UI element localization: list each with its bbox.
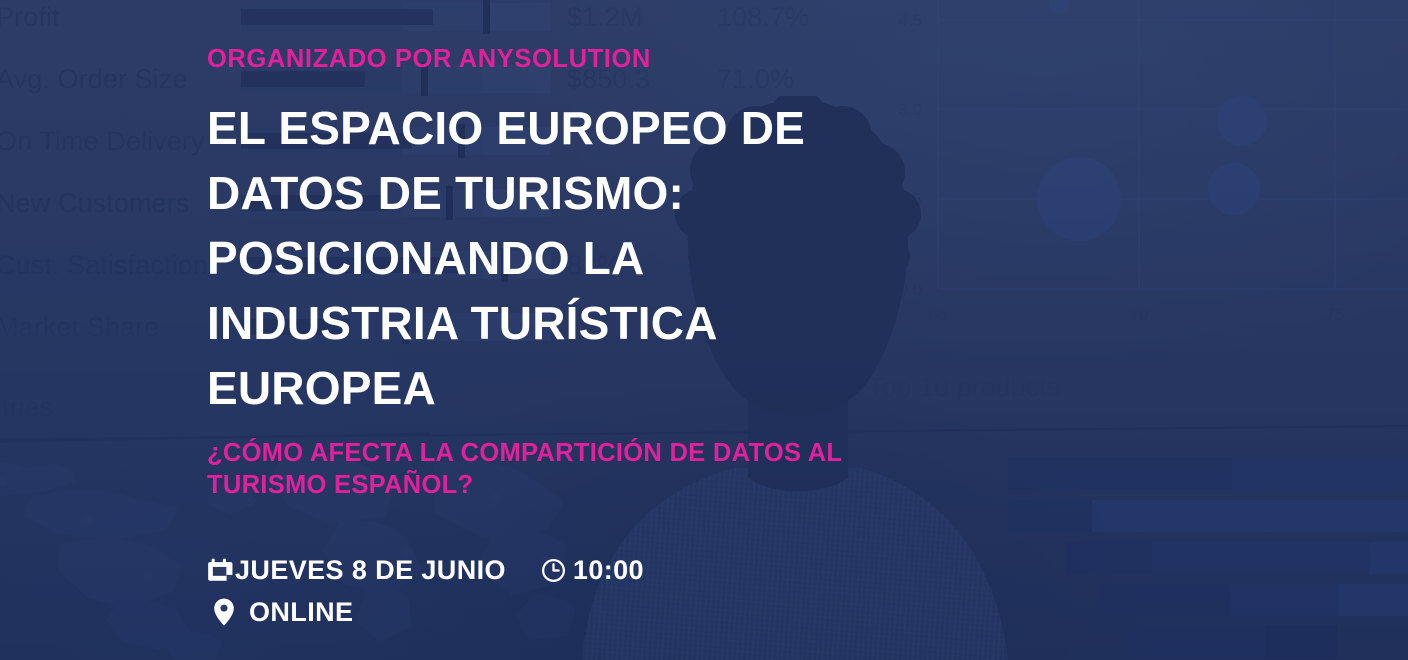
location-pin-icon [213, 598, 235, 626]
calendar-icon [207, 556, 235, 584]
page-subtitle: ¿CÓMO AFECTA LA COMPARTICIÓN DE DATOS AL… [207, 437, 907, 501]
title-line: INDUSTRIA TURÍSTICA [207, 291, 897, 356]
event-meta: JUEVES 8 DE JUNIO 10:00 ONLINE [207, 549, 644, 633]
title-line: EUROPEA [207, 356, 897, 421]
page-title: EL ESPACIO EUROPEO DE DATOS DE TURISMO: … [207, 96, 897, 421]
event-location-row: ONLINE [207, 591, 644, 633]
clock-icon [540, 557, 567, 584]
event-date: JUEVES 8 DE JUNIO [235, 555, 506, 586]
title-line: POSICIONANDO LA [207, 226, 897, 291]
subtitle-line: ¿CÓMO AFECTA LA COMPARTICIÓN DE DATOS AL [207, 437, 907, 469]
event-datetime-row: JUEVES 8 DE JUNIO 10:00 [207, 549, 644, 591]
event-location: ONLINE [249, 597, 353, 628]
organizer-eyebrow: ORGANIZADO POR ANYSOLUTION [207, 45, 651, 74]
subtitle-line: TURISMO ESPAÑOL? [207, 469, 907, 501]
banner-content: ORGANIZADO POR ANYSOLUTION EL ESPACIO EU… [207, 0, 1107, 660]
banner-canvas: Profit $1.2M 108.7% Avg. Order Size $850… [0, 0, 1408, 660]
title-line: DATOS DE TURISMO: [207, 161, 897, 226]
event-time: 10:00 [573, 555, 644, 586]
title-line: EL ESPACIO EUROPEO DE [207, 96, 897, 161]
